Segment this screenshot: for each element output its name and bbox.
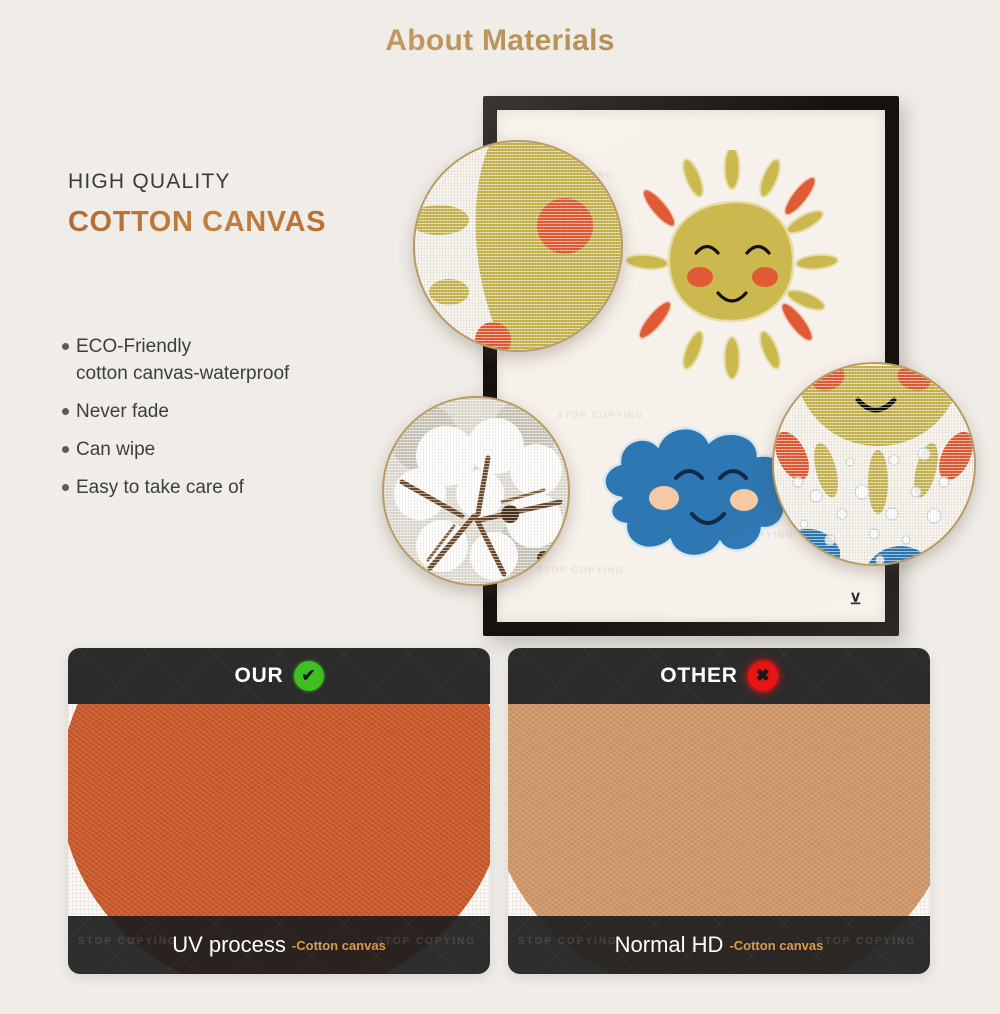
artist-signature: ⊻	[849, 590, 861, 608]
inset-canvas-weave-detail	[413, 140, 623, 352]
comparison-panel-other: OTHER ✖ STOP COPYING STOP COPYING Normal…	[508, 648, 930, 974]
panel-footer-label: UV process	[172, 932, 286, 958]
watermark-text: STOP COPYING	[78, 936, 178, 947]
list-item: Easy to take care of	[62, 474, 402, 501]
list-item: Never fade	[62, 398, 402, 425]
cloud-cheek-left	[649, 486, 679, 510]
watermark-text: STOP COPYING	[518, 936, 618, 947]
list-item: Can wipe	[62, 436, 402, 463]
panel-header-label: OUR	[234, 664, 283, 688]
panel-footer-other: STOP COPYING STOP COPYING Normal HD -Cot…	[508, 916, 930, 974]
panel-footer-sublabel: -Cotton canvas	[729, 938, 823, 953]
bullet-label: Easy to take care of	[76, 474, 244, 501]
page-title: About Materials	[0, 24, 1000, 58]
panel-header-our: OUR ✔	[68, 648, 490, 704]
sun-cheek-right	[752, 267, 778, 287]
bullet-dot-icon	[62, 343, 69, 350]
bullet-label: Never fade	[76, 398, 169, 425]
check-icon: ✔	[294, 661, 324, 691]
headline-text: COTTON CANVAS	[68, 206, 398, 239]
panel-footer-sublabel: -Cotton canvas	[292, 938, 386, 953]
bullet-label: Can wipe	[76, 436, 155, 463]
sun-body	[669, 202, 793, 321]
inset-waterproof-droplet-detail	[772, 362, 976, 566]
panel-header-label: OTHER	[660, 664, 738, 688]
sun-cheek-left	[687, 267, 713, 287]
sun-illustration	[607, 150, 857, 380]
bullet-dot-icon	[62, 408, 69, 415]
infographic-page: About Materials HIGH QUALITY COTTON CANV…	[0, 0, 1000, 1014]
panel-header-other: OTHER ✖	[508, 648, 930, 704]
panel-footer-label: Normal HD	[615, 932, 724, 958]
watermark-text: STOP COPYING	[376, 936, 476, 947]
list-item: ECO-Friendlycotton canvas-waterproof	[62, 333, 402, 387]
comparison-panel-our: OUR ✔ STOP COPYING STOP COPYING UV proce…	[68, 648, 490, 974]
left-copy-block: HIGH QUALITY COTTON CANVAS	[68, 170, 398, 239]
cross-icon: ✖	[748, 661, 778, 691]
bullet-dot-icon	[62, 446, 69, 453]
kicker-text: HIGH QUALITY	[68, 170, 398, 194]
bullet-dot-icon	[62, 484, 69, 491]
panel-footer-our: STOP COPYING STOP COPYING UV process -Co…	[68, 916, 490, 974]
cloud-cheek-right	[730, 489, 758, 511]
feature-bullet-list: ECO-Friendlycotton canvas-waterproof Nev…	[62, 333, 402, 512]
watermark-text: STOP COPYING	[557, 410, 644, 420]
watermark-text: STOP COPYING	[816, 936, 916, 947]
inset-cotton-boll-photo	[382, 396, 570, 586]
bullet-label: ECO-Friendlycotton canvas-waterproof	[76, 333, 289, 387]
cloud-body	[604, 428, 787, 556]
